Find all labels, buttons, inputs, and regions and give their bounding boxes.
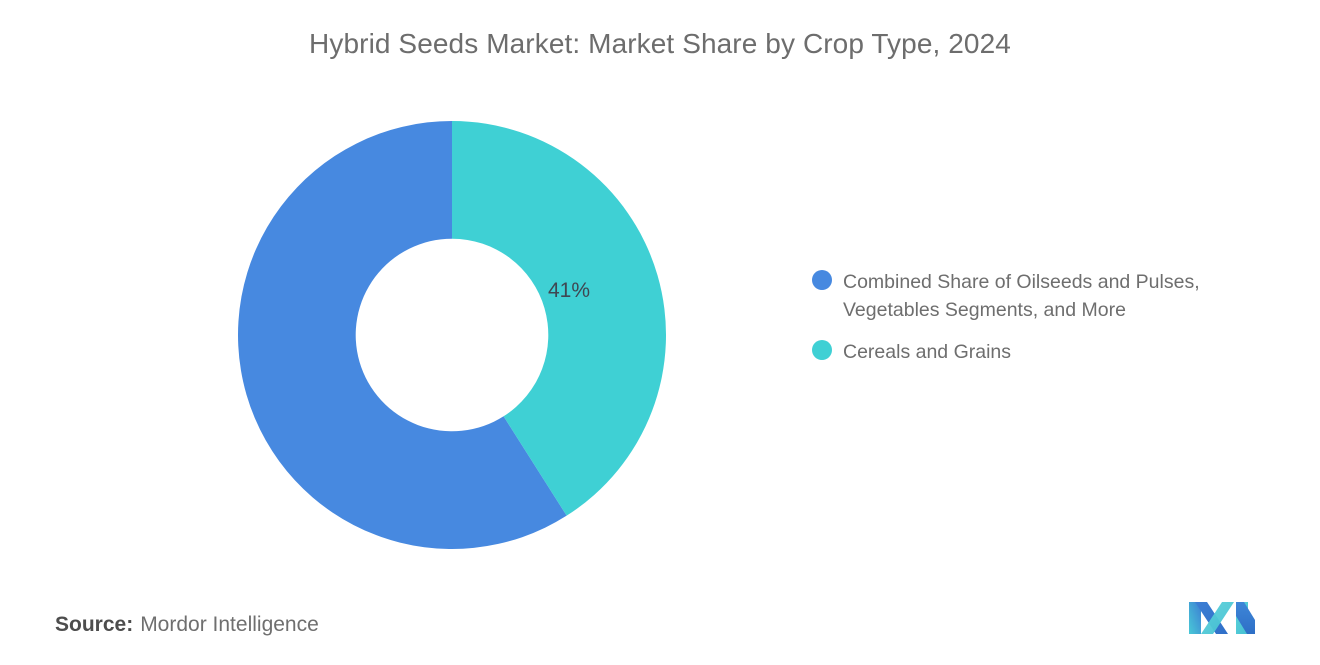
chart-title: Hybrid Seeds Market: Market Share by Cro…: [0, 28, 1320, 60]
legend-item-label: Combined Share of Oilseeds and Pulses, V…: [843, 268, 1263, 324]
source-line: Source:Mordor Intelligence: [55, 613, 319, 637]
legend-swatch-icon: [812, 340, 832, 360]
legend-item-label: Cereals and Grains: [843, 338, 1011, 366]
donut-data-label-cereals-and-grains: 41%: [548, 279, 590, 303]
source-label: Source:: [55, 613, 133, 636]
donut-chart: [238, 121, 666, 549]
mordor-intelligence-logo-icon: [1186, 598, 1258, 638]
legend-swatch-icon: [812, 270, 832, 290]
chart-legend: Combined Share of Oilseeds and Pulses, V…: [812, 268, 1282, 380]
source-value: Mordor Intelligence: [140, 613, 319, 636]
donut-svg: [238, 121, 666, 549]
legend-item-cereals-and-grains[interactable]: Cereals and Grains: [812, 338, 1282, 366]
legend-item-combined-share[interactable]: Combined Share of Oilseeds and Pulses, V…: [812, 268, 1282, 324]
chart-figure: Hybrid Seeds Market: Market Share by Cro…: [0, 0, 1320, 665]
